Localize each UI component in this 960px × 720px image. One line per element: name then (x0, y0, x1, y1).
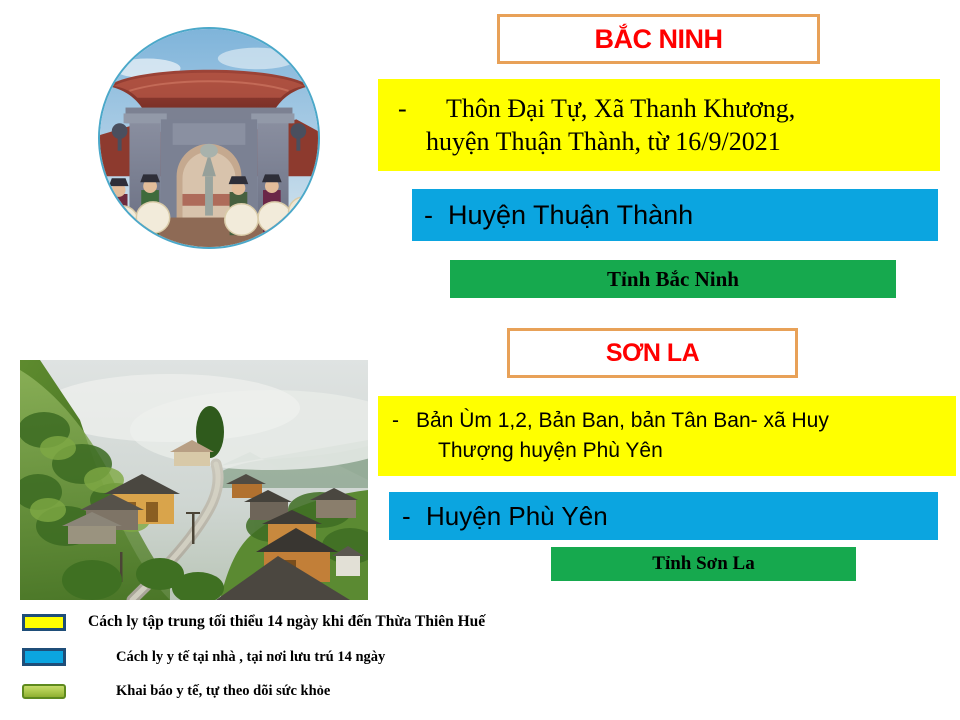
title-bac-ninh-text: BẮC NINH (595, 24, 723, 55)
legend-text-2: Cách ly y tế tại nhà , tại nơi lưu trú 1… (116, 649, 385, 666)
green-box-son-la: Tỉnh Sơn La (551, 547, 856, 581)
legend-text-3: Khai báo y tế, tự theo dõi sức khỏe (116, 683, 330, 700)
green-son-la-label: Tỉnh Sơn La (652, 553, 754, 575)
blue-son-la-label: Huyện Phù Yên (426, 501, 608, 532)
blue-box-son-la: - Huyện Phù Yên (389, 492, 938, 540)
green-box-bac-ninh: Tỉnh Bắc Ninh (450, 260, 896, 298)
yellow-box-bac-ninh: - Thôn Đại Tự, Xã Thanh Khương, huyện Th… (378, 79, 940, 171)
title-box-son-la: SƠN LA (507, 328, 798, 378)
legend-text-1: Cách ly tập trung tối thiểu 14 ngày khi … (88, 613, 485, 631)
legend-item-quarantine-centralized: Cách ly tập trung tối thiểu 14 ngày khi … (22, 613, 485, 631)
yellow-bac-ninh-bullet: - (398, 92, 426, 125)
title-son-la-text: SƠN LA (606, 339, 699, 368)
legend-item-quarantine-home: Cách ly y tế tại nhà , tại nơi lưu trú 1… (22, 648, 385, 666)
title-box-bac-ninh: BẮC NINH (497, 14, 820, 64)
slide-canvas: BẮC NINH - Thôn Đại Tự, Xã Thanh Khương,… (0, 0, 960, 720)
mountain-village-illustration (20, 360, 368, 600)
yellow-swatch-icon (22, 614, 66, 631)
yellow-bac-ninh-line-2: huyện Thuận Thành, từ 16/9/2021 (426, 127, 781, 156)
yellow-son-la-line-1: Bản Ùm 1,2, Bản Ban, bản Tân Ban- xã Huy (416, 409, 829, 432)
yellow-bac-ninh-content: - Thôn Đại Tự, Xã Thanh Khương, huyện Th… (398, 92, 795, 159)
green-bac-ninh-label: Tỉnh Bắc Ninh (607, 267, 739, 292)
yellow-son-la-content: - Bản Ùm 1,2, Bản Ban, bản Tân Ban- xã H… (392, 406, 829, 467)
blue-box-bac-ninh: - Huyện Thuận Thành (412, 189, 938, 241)
yellow-bac-ninh-line-1: Thôn Đại Tự, Xã Thanh Khương, (426, 92, 795, 125)
temple-gate-illustration (100, 29, 318, 247)
blue-son-la-bullet: - (402, 501, 426, 532)
blue-bac-ninh-label: Huyện Thuận Thành (448, 200, 693, 231)
blue-swatch-icon (22, 648, 66, 666)
photo-bac-ninh-temple-gate (98, 27, 320, 249)
photo-son-la-village (20, 360, 368, 600)
blue-bac-ninh-bullet: - (424, 200, 448, 231)
yellow-box-son-la: - Bản Ùm 1,2, Bản Ban, bản Tân Ban- xã H… (378, 396, 956, 476)
yellow-son-la-bullet: - (392, 406, 416, 436)
legend-item-health-declaration: Khai báo y tế, tự theo dõi sức khỏe (22, 683, 330, 700)
olive-swatch-icon (22, 684, 66, 699)
yellow-bac-ninh-lines: Thôn Đại Tự, Xã Thanh Khương, huyện Thuậ… (426, 92, 795, 159)
yellow-son-la-line-2: Thượng huyện Phù Yên (416, 436, 829, 466)
yellow-son-la-lines: Bản Ùm 1,2, Bản Ban, bản Tân Ban- xã Huy… (416, 406, 829, 467)
